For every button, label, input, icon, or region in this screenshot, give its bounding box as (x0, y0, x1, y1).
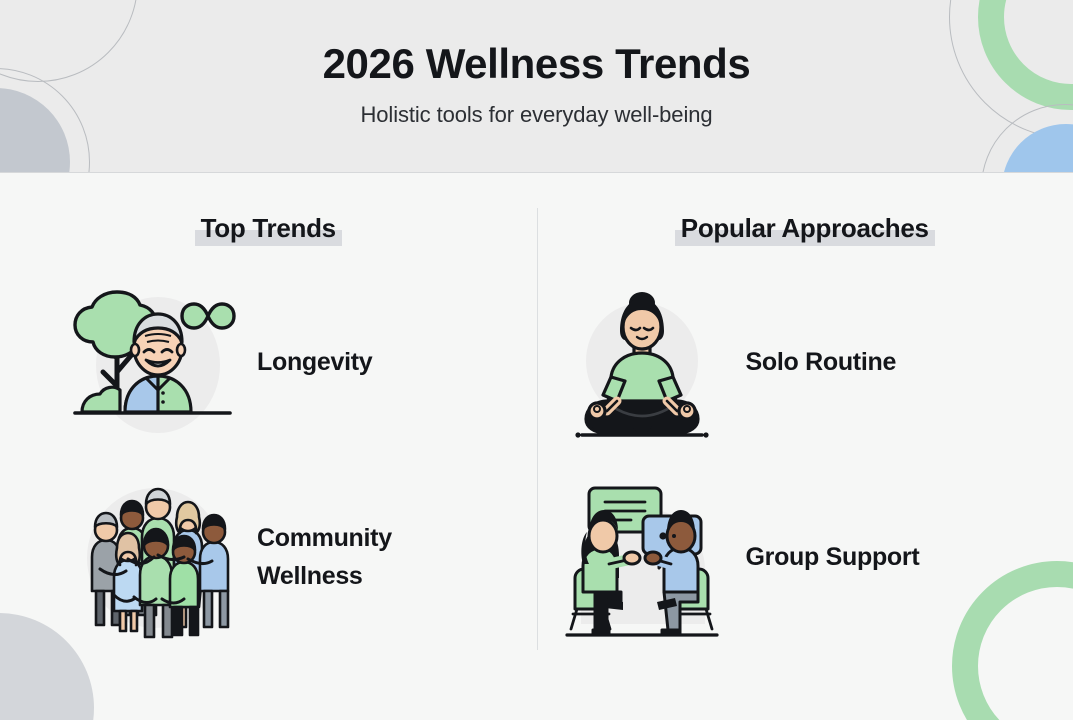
page-header: 2026 Wellness Trends Holistic tools for … (0, 0, 1073, 173)
column-heading-label: Popular Approaches (681, 213, 929, 243)
column-heading-label: Top Trends (201, 213, 336, 243)
list-item[interactable]: Solo Routine (555, 265, 1073, 460)
column-heading-top-trends: Top Trends (0, 213, 537, 244)
two-people-talking-speech-bubbles-icon (555, 473, 730, 643)
list-item[interactable]: Community Wellness (62, 460, 537, 655)
list-item[interactable]: Longevity (62, 265, 537, 460)
page-subtitle: Holistic tools for everyday well-being (0, 102, 1073, 128)
elderly-person-tree-infinity-icon (62, 278, 247, 448)
list-item-label: Community Wellness (247, 520, 497, 595)
column-top-trends: Top Trends (0, 173, 537, 720)
person-meditating-lotus-icon (555, 278, 730, 448)
people-circle-holding-hands-icon (62, 473, 247, 643)
list-item-label: Group Support (730, 539, 920, 577)
list-item-label: Longevity (247, 344, 372, 382)
list-item[interactable]: Group Support (555, 460, 1073, 655)
list-item-label: Solo Routine (730, 344, 897, 382)
decorative-circle-blue-top-right (1002, 124, 1073, 173)
column-heading-popular-approaches: Popular Approaches (537, 213, 1073, 244)
page-title: 2026 Wellness Trends (0, 42, 1073, 86)
content-board: Top Trends (0, 173, 1073, 720)
column-popular-approaches: Popular Approaches (537, 173, 1073, 720)
